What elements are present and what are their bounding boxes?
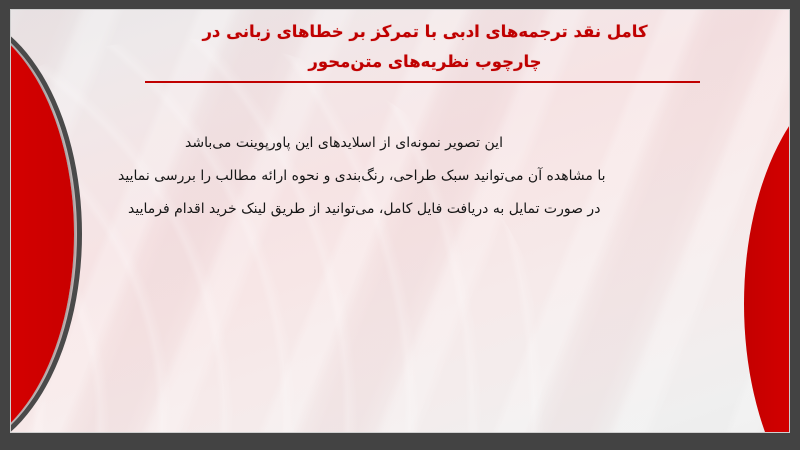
body-line-3: در صورت تمایل به دریافت فایل کامل، می‌تو… <box>100 193 645 226</box>
slide-canvas: کامل نقد ترجمه‌های ادبی با تمرکز بر خطاه… <box>0 0 800 450</box>
slide-content-area: کامل نقد ترجمه‌های ادبی با تمرکز بر خطاه… <box>10 9 790 433</box>
slide-title-line-2: چارچوب نظریه‌های متن‌محور <box>130 47 720 77</box>
background-arc-decoration <box>10 39 560 433</box>
slide-body-text: این تصویر نمونه‌ای از اسلایدهای این پاور… <box>100 127 645 226</box>
slide-title: کامل نقد ترجمه‌های ادبی با تمرکز بر خطاه… <box>130 17 720 77</box>
left-red-ellipse-rim <box>10 9 82 433</box>
body-line-2: با مشاهده آن می‌توانید سبک طراحی، رنگ‌بن… <box>100 160 645 193</box>
right-red-ellipse-decoration <box>744 69 790 433</box>
body-line-1: این تصویر نمونه‌ای از اسلایدهای این پاور… <box>100 127 645 160</box>
title-underline-rule <box>145 81 700 83</box>
slide-title-line-1: کامل نقد ترجمه‌های ادبی با تمرکز بر خطاه… <box>130 17 720 47</box>
